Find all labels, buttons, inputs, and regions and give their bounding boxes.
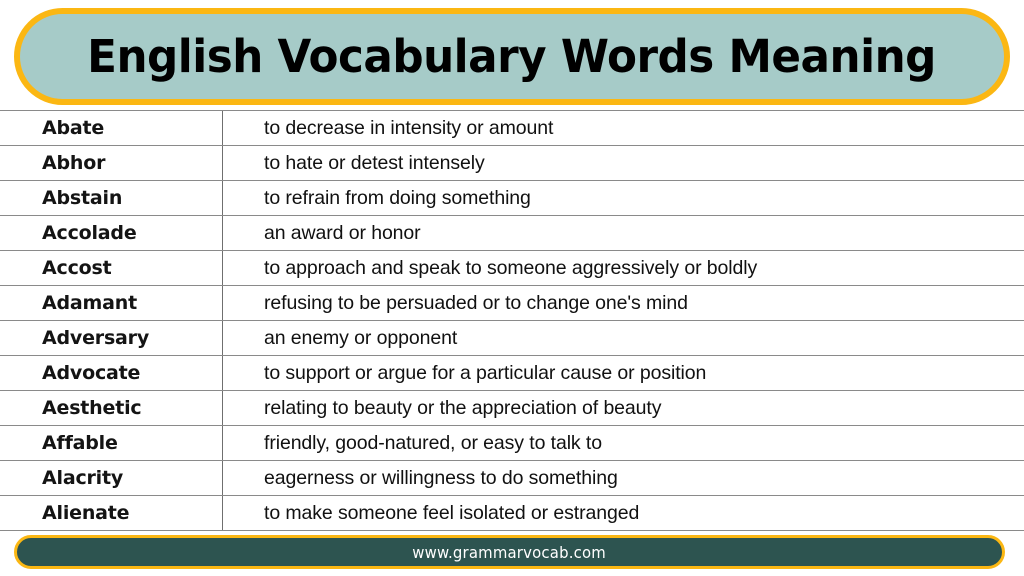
column-divider [222,286,223,320]
table-row: Adamantrefusing to be persuaded or to ch… [0,286,1024,321]
vocabulary-definition: to make someone feel isolated or estrang… [222,502,1024,525]
column-divider [222,111,223,145]
vocabulary-definition: eagerness or willingness to do something [222,467,1024,490]
header-banner: English Vocabulary Words Meaning [14,8,1010,105]
table-row: Accoladean award or honor [0,216,1024,251]
vocabulary-word: Affable [0,432,222,454]
column-divider [222,496,223,530]
vocabulary-definition: friendly, good-natured, or easy to talk … [222,432,1024,455]
vocabulary-definition: refusing to be persuaded or to change on… [222,292,1024,315]
vocabulary-word: Adamant [0,292,222,314]
vocabulary-definition: to hate or detest intensely [222,152,1024,175]
column-divider [222,216,223,250]
vocabulary-definition: to approach and speak to someone aggress… [222,257,1024,280]
vocabulary-word: Abate [0,117,222,139]
table-row: Alienateto make someone feel isolated or… [0,496,1024,531]
column-divider [222,391,223,425]
vocabulary-word: Abstain [0,187,222,209]
table-row: Accostto approach and speak to someone a… [0,251,1024,286]
vocabulary-word: Alienate [0,502,222,524]
column-divider [222,426,223,460]
column-divider [222,461,223,495]
vocabulary-word: Abhor [0,152,222,174]
column-divider [222,356,223,390]
column-divider [222,146,223,180]
vocabulary-definition: to support or argue for a particular cau… [222,362,1024,385]
table-row: Abhorto hate or detest intensely [0,146,1024,181]
page-title: English Vocabulary Words Meaning [88,34,937,79]
vocabulary-definition: to refrain from doing something [222,187,1024,210]
vocabulary-definition: to decrease in intensity or amount [222,117,1024,140]
table-row: Advocateto support or argue for a partic… [0,356,1024,391]
table-row: Adversaryan enemy or opponent [0,321,1024,356]
footer-bar: www.grammarvocab.com [14,535,1005,569]
table-row: Abstainto refrain from doing something [0,181,1024,216]
vocabulary-word: Alacrity [0,467,222,489]
table-row: Alacrityeagerness or willingness to do s… [0,461,1024,496]
table-row: Abateto decrease in intensity or amount [0,110,1024,146]
vocabulary-word: Aesthetic [0,397,222,419]
vocabulary-word: Accost [0,257,222,279]
vocabulary-word: Adversary [0,327,222,349]
vocabulary-definition: an enemy or opponent [222,327,1024,350]
vocabulary-definition: relating to beauty or the appreciation o… [222,397,1024,420]
website-url: www.grammarvocab.com [413,543,607,562]
vocabulary-word: Advocate [0,362,222,384]
table-row: Affablefriendly, good-natured, or easy t… [0,426,1024,461]
column-divider [222,181,223,215]
vocabulary-word: Accolade [0,222,222,244]
column-divider [222,321,223,355]
table-row: Aestheticrelating to beauty or the appre… [0,391,1024,426]
vocabulary-table: Abateto decrease in intensity or amountA… [0,110,1024,531]
vocabulary-definition: an award or honor [222,222,1024,245]
vocabulary-infographic-page: English Vocabulary Words Meaning Abateto… [0,0,1024,576]
column-divider [222,251,223,285]
